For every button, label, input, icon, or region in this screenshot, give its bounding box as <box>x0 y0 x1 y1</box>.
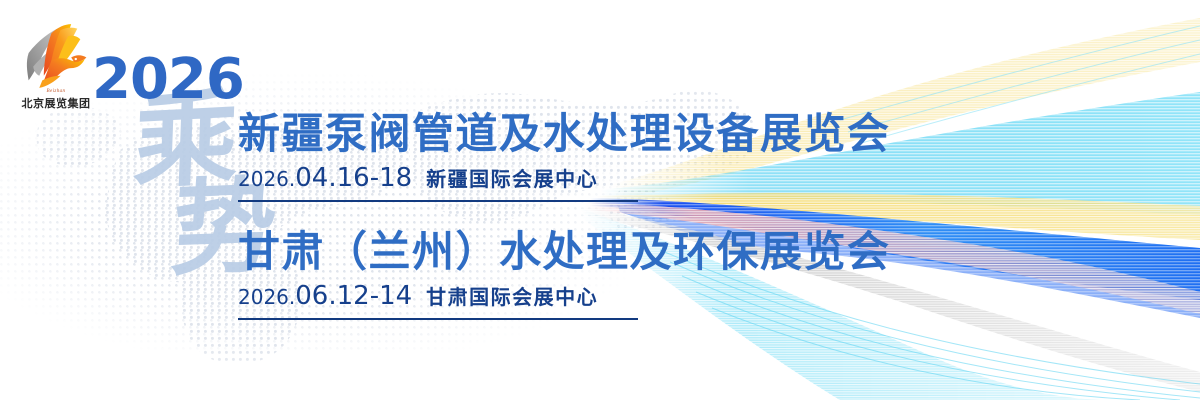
year-label: 2026 <box>92 52 244 108</box>
phoenix-bird-icon <box>18 18 94 94</box>
event-date-year: 2026. <box>238 167 295 191</box>
event-date-monthday: 06.12-14 <box>295 281 412 311</box>
exhibition-banner: 乘 势 <box>0 0 1200 400</box>
event-date-year: 2026. <box>238 285 295 309</box>
event-meta: 2026.06.12-14 甘肃国际会展中心 <box>238 281 638 320</box>
event-title: 甘肃（兰州）水处理及环保展览会 <box>238 230 938 274</box>
logo-chinese-text: 北京展览集团 <box>14 95 98 111</box>
event-block-xinjiang: 新疆泵阀管道及水处理设备展览会 2026.04.16-18 新疆国际会展中心 <box>238 112 938 202</box>
event-list: 新疆泵阀管道及水处理设备展览会 2026.04.16-18 新疆国际会展中心 甘… <box>238 112 938 320</box>
event-venue: 新疆国际会展中心 <box>426 163 598 192</box>
event-meta: 2026.04.16-18 新疆国际会展中心 <box>238 163 638 202</box>
event-date-monthday: 04.16-18 <box>295 163 412 193</box>
event-block-gansu: 甘肃（兰州）水处理及环保展览会 2026.06.12-14 甘肃国际会展中心 <box>238 230 938 320</box>
organizer-logo: Beizhan 北京展览集团 <box>14 18 98 122</box>
logo-latin-text: Beizhan <box>14 89 98 94</box>
event-date: 2026.06.12-14 <box>238 281 412 311</box>
event-date: 2026.04.16-18 <box>238 163 412 193</box>
event-venue: 甘肃国际会展中心 <box>426 281 598 310</box>
event-title: 新疆泵阀管道及水处理设备展览会 <box>238 112 938 156</box>
